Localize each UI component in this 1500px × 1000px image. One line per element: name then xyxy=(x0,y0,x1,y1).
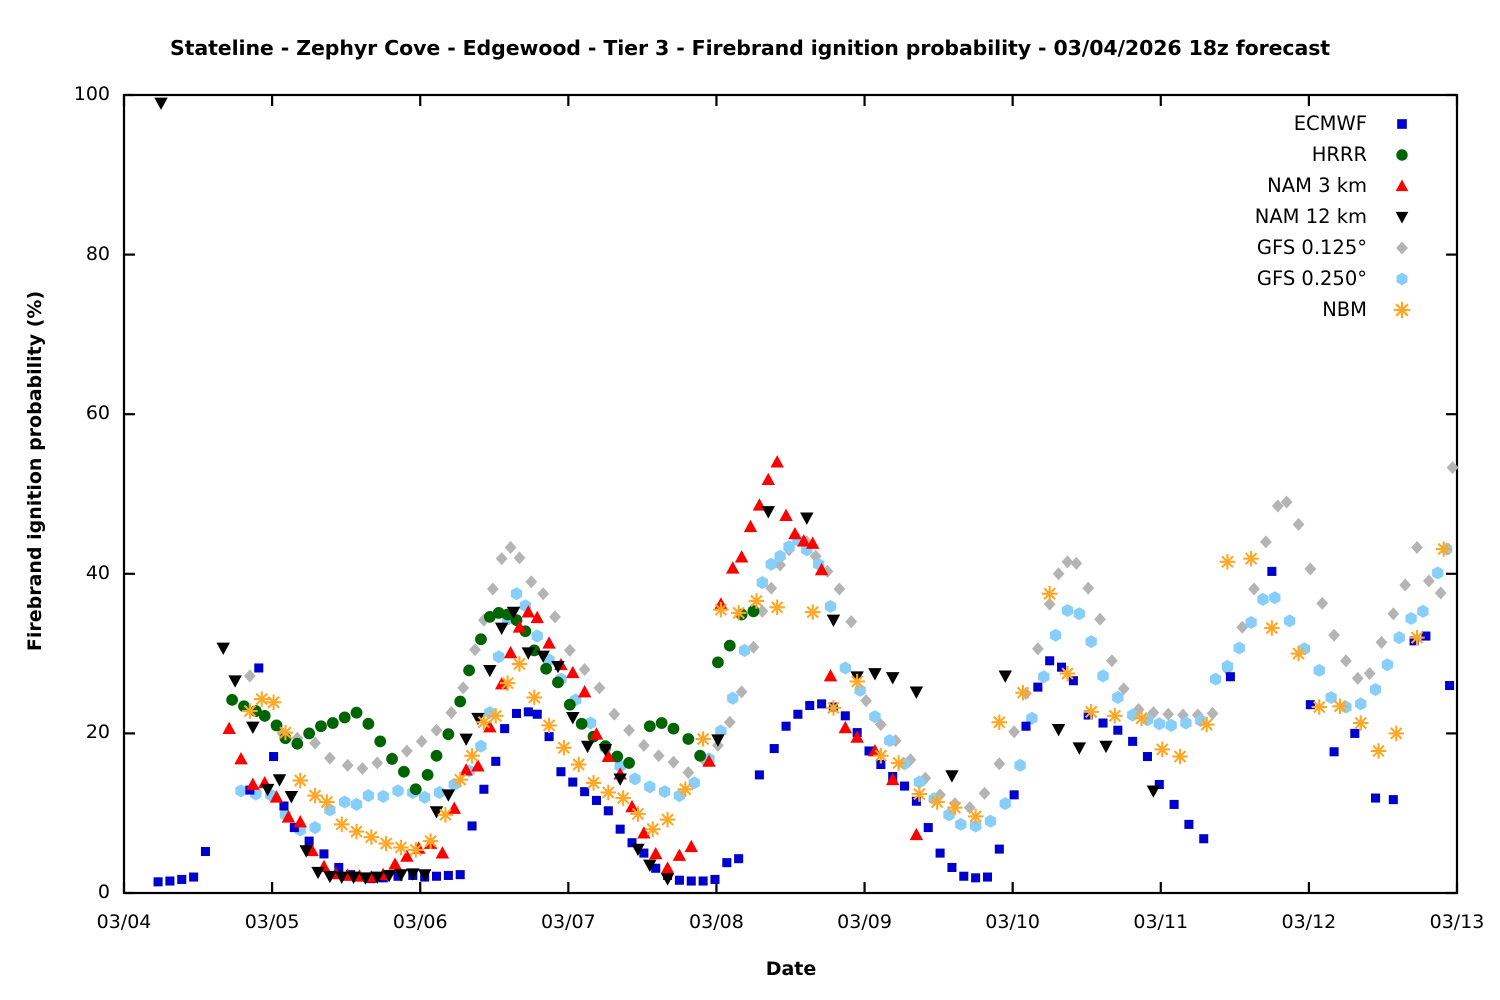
series-nbm xyxy=(242,541,1451,857)
legend-item-hrrr[interactable]: HRRR xyxy=(1175,139,1415,170)
series-ecmwf xyxy=(154,567,1455,886)
legend-label: NAM 12 km xyxy=(1255,205,1389,228)
legend-marker-triangle-down-icon xyxy=(1389,204,1415,230)
y-tick-label: 80 xyxy=(50,243,110,265)
series-hrrr xyxy=(226,605,759,795)
x-tick-label: 03/07 xyxy=(508,911,628,933)
series-gfs-0-125 xyxy=(226,461,1458,814)
y-tick-label: 0 xyxy=(50,881,110,903)
legend-label: NBM xyxy=(1322,298,1389,321)
legend-label: NAM 3 km xyxy=(1267,174,1389,197)
x-tick-label: 03/06 xyxy=(360,911,480,933)
x-tick-label: 03/09 xyxy=(805,911,925,933)
legend-label: ECMWF xyxy=(1294,112,1389,135)
legend-marker-asterisk-icon xyxy=(1389,297,1415,323)
series-nam-12-km xyxy=(154,98,1160,886)
y-tick-label: 40 xyxy=(50,562,110,584)
y-tick-label: 20 xyxy=(50,721,110,743)
legend-item-nbm[interactable]: NBM xyxy=(1175,294,1415,325)
legend-label: GFS 0.250° xyxy=(1257,267,1389,290)
legend-marker-square-icon xyxy=(1389,111,1415,137)
legend-marker-hexagon-icon xyxy=(1389,266,1415,292)
legend-label: GFS 0.125° xyxy=(1257,236,1389,259)
legend-item-gfs-0-125-[interactable]: GFS 0.125° xyxy=(1175,232,1415,263)
x-tick-label: 03/08 xyxy=(656,911,776,933)
x-tick-label: 03/04 xyxy=(64,911,184,933)
legend-item-gfs-0-250-[interactable]: GFS 0.250° xyxy=(1175,263,1415,294)
legend-item-ecmwf[interactable]: ECMWF xyxy=(1175,108,1415,139)
x-tick-label: 03/10 xyxy=(953,911,1073,933)
chart-figure: Stateline - Zephyr Cove - Edgewood - Tie… xyxy=(0,0,1500,1000)
legend-label: HRRR xyxy=(1312,143,1389,166)
chart-legend: ECMWFHRRRNAM 3 kmNAM 12 kmGFS 0.125°GFS … xyxy=(1175,108,1415,325)
legend-item-nam-12-km[interactable]: NAM 12 km xyxy=(1175,201,1415,232)
legend-item-nam-3-km[interactable]: NAM 3 km xyxy=(1175,170,1415,201)
series-nam-3-km xyxy=(222,455,923,882)
legend-marker-diamond-icon xyxy=(1389,235,1415,261)
y-tick-label: 60 xyxy=(50,402,110,424)
x-tick-label: 03/05 xyxy=(212,911,332,933)
y-tick-label: 100 xyxy=(50,83,110,105)
x-tick-label: 03/13 xyxy=(1397,911,1500,933)
x-tick-label: 03/11 xyxy=(1101,911,1221,933)
legend-marker-triangle-up-icon xyxy=(1389,173,1415,199)
x-tick-label: 03/12 xyxy=(1249,911,1369,933)
legend-marker-circle-icon xyxy=(1389,142,1415,168)
